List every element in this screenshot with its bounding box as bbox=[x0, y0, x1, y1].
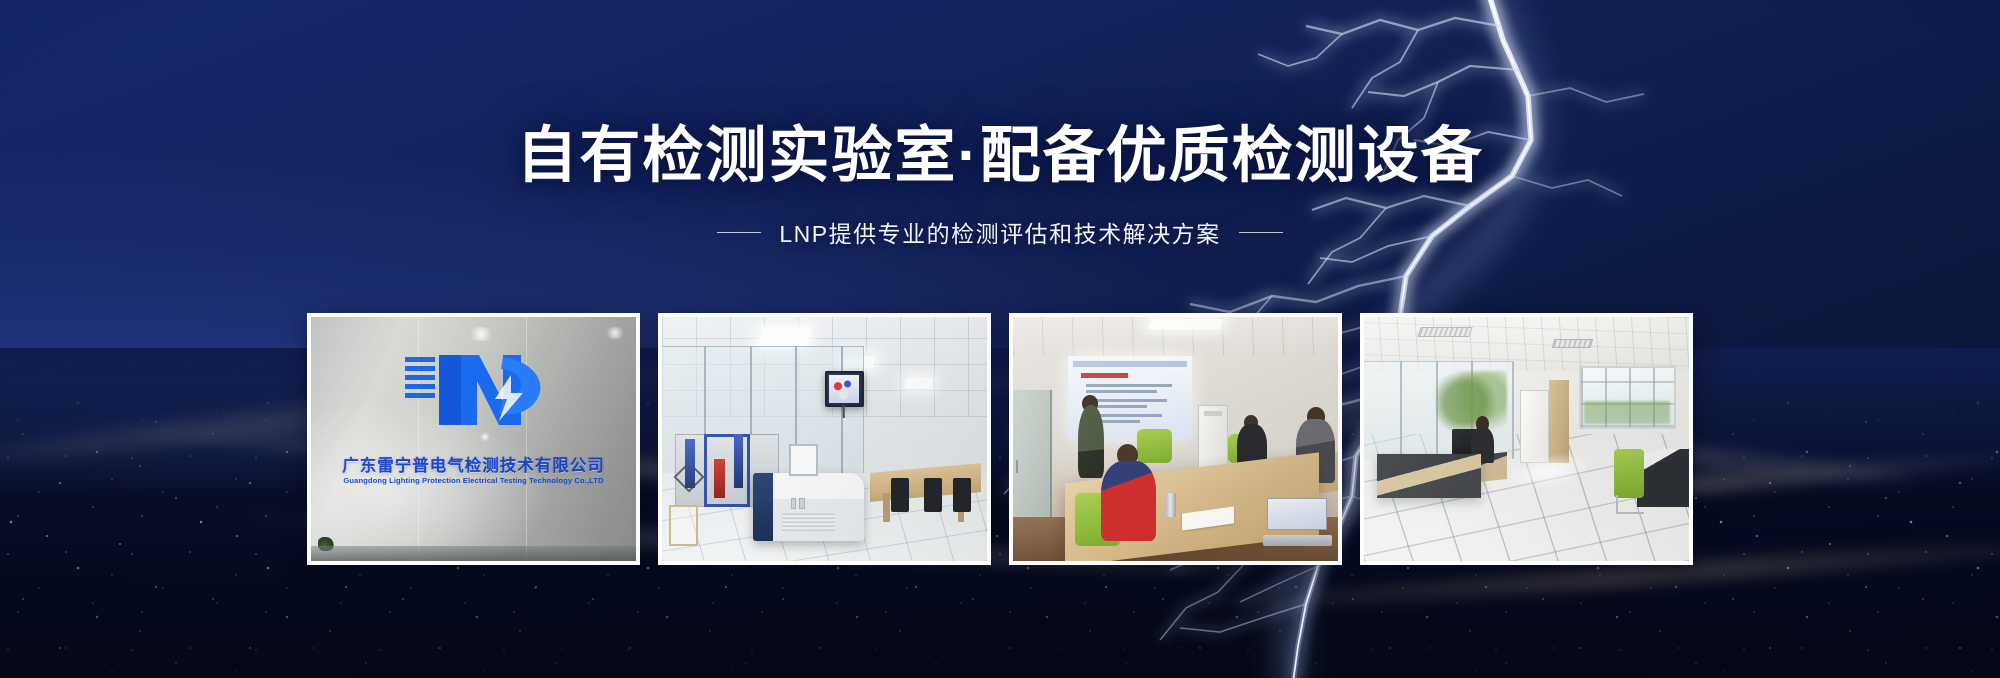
photo-gallery: 广东雷宁普电气检测技术有限公司 Guangdong Lighting Prote… bbox=[307, 313, 1693, 565]
right-dash-divider bbox=[1239, 232, 1283, 233]
equipment-insulator-red bbox=[714, 459, 725, 498]
floor-standing-air-conditioner bbox=[1198, 405, 1227, 473]
subtitle-block: LNP提供专业的检测评估和技术解决方案 bbox=[0, 215, 2000, 249]
ceiling-light-reflection bbox=[480, 432, 490, 442]
page-title: 自有检测实验室·配备优质检测设备 bbox=[0, 122, 2000, 189]
testing-laboratory-photo bbox=[662, 317, 987, 561]
office-chair bbox=[924, 478, 942, 512]
white-cabinet bbox=[1520, 390, 1549, 463]
slide-text-line bbox=[1086, 384, 1172, 387]
gallery-card-company-signage[interactable]: 广东雷宁普电气检测技术有限公司 Guangdong Lighting Prote… bbox=[307, 313, 640, 565]
banner-stage: 自有检测实验室·配备优质检测设备 LNP提供专业的检测评估和技术解决方案 bbox=[0, 0, 2000, 678]
desk-leg bbox=[883, 493, 890, 522]
office-area-photo bbox=[1364, 317, 1689, 561]
green-chair bbox=[1614, 449, 1643, 498]
office-chair bbox=[953, 478, 971, 512]
company-name-en: Guangdong Lighting Protection Electrical… bbox=[343, 476, 603, 485]
wall-mounted-tv bbox=[825, 371, 864, 408]
tv-screen-content bbox=[829, 375, 858, 402]
left-dash-divider bbox=[717, 232, 761, 233]
presenter-standing bbox=[1078, 405, 1104, 478]
floor-strip bbox=[311, 546, 636, 561]
gallery-card-testing-laboratory[interactable] bbox=[658, 313, 991, 565]
training-meeting-room-photo bbox=[1013, 317, 1338, 561]
outside-foliage bbox=[1436, 371, 1508, 434]
door-handle bbox=[1016, 460, 1018, 473]
page-subtitle: LNP提供专业的检测评估和技术解决方案 bbox=[779, 215, 1220, 249]
office-chair bbox=[891, 478, 909, 512]
console-vent-grille bbox=[782, 513, 835, 531]
banner-content: 自有检测实验室·配备优质检测设备 LNP提供专业的检测评估和技术解决方案 bbox=[0, 0, 2000, 678]
ceiling-air-vent bbox=[1417, 327, 1473, 337]
green-chair bbox=[1137, 429, 1173, 463]
control-console bbox=[753, 473, 864, 541]
ceiling-air-vent bbox=[1551, 339, 1592, 348]
ceiling-light-panel bbox=[905, 378, 933, 388]
office-desk-front bbox=[1377, 454, 1481, 498]
metal-stool bbox=[669, 505, 698, 546]
ceiling-light-reflection bbox=[604, 327, 626, 339]
console-button bbox=[791, 498, 797, 509]
lnp-logo-icon bbox=[399, 351, 549, 429]
barred-window bbox=[1579, 366, 1677, 429]
console-monitor bbox=[789, 444, 818, 476]
slide-text-line bbox=[1086, 390, 1158, 393]
company-signage-photo: 广东雷宁普电气检测技术有限公司 Guangdong Lighting Prote… bbox=[311, 317, 636, 561]
attendee-red-jacket bbox=[1101, 461, 1156, 542]
laptop-screen bbox=[1267, 498, 1327, 530]
slide-title-block bbox=[1081, 373, 1128, 378]
outside-foliage bbox=[1584, 401, 1670, 424]
console-button bbox=[799, 498, 805, 509]
ceiling-light-panel bbox=[1148, 319, 1223, 329]
laptop-keyboard bbox=[1263, 535, 1331, 547]
reception-counter bbox=[1637, 449, 1689, 508]
equipment-insulator-blue bbox=[685, 439, 695, 488]
company-name-cn: 广东雷宁普电气检测技术有限公司 bbox=[342, 452, 605, 476]
frosted-glass-door bbox=[1013, 390, 1052, 524]
gallery-card-training-meeting[interactable] bbox=[1009, 313, 1342, 565]
headline-block: 自有检测实验室·配备优质检测设备 bbox=[0, 122, 2000, 189]
equipment-insulator-blue bbox=[734, 434, 744, 488]
gallery-card-office-area[interactable] bbox=[1360, 313, 1693, 565]
laptop bbox=[1263, 498, 1331, 547]
glass-mullion bbox=[1400, 361, 1402, 459]
water-bottle bbox=[1166, 493, 1176, 517]
slide-toolbar bbox=[1073, 361, 1187, 367]
ceiling-light-reflection bbox=[467, 327, 495, 341]
